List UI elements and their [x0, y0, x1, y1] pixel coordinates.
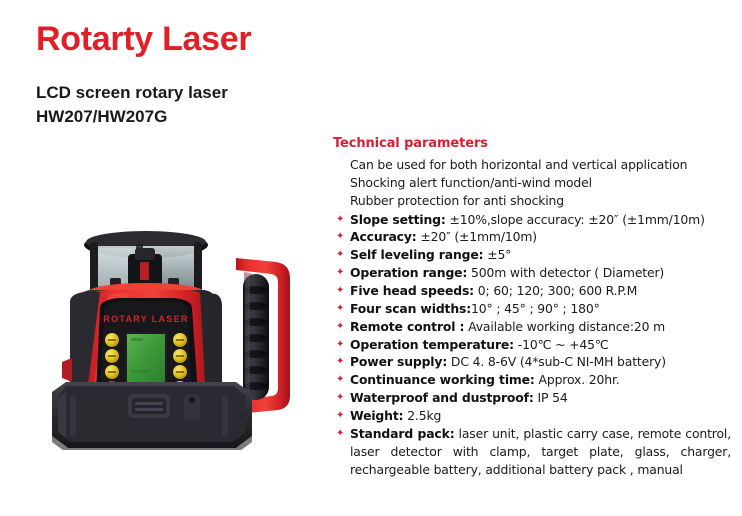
- spec-item: ✦ Four scan widths:10° ; 45° ; 90° ; 180…: [333, 300, 733, 318]
- spec-item: ✦ Remote control : Available working dis…: [333, 318, 733, 336]
- laser-base: [52, 382, 252, 450]
- spec-value: 2.5kg: [403, 408, 441, 423]
- rotary-laser-illustration: ROTARY LASER: [40, 150, 336, 450]
- spec-item: ✦ Power supply: DC 4. 8-6V (4*sub-C NI-M…: [333, 353, 733, 371]
- bullet-diamond-icon: ✦: [336, 407, 344, 425]
- product-image: ROTARY LASER: [40, 150, 336, 450]
- intro-line: Rubber protection for anti shocking: [333, 192, 733, 210]
- bullet-diamond-icon: ✦: [336, 318, 344, 336]
- specs-intro-lines: Can be used for both horizontal and vert…: [333, 156, 733, 210]
- bullet-diamond-icon: ✦: [336, 228, 344, 246]
- subtitle-description: LCD screen rotary laser: [36, 81, 336, 105]
- specs-bullet-list: ✦ Slope setting: ±10%,slope accuracy: ±2…: [333, 211, 733, 479]
- spec-value: 500m with detector ( Diameter): [467, 265, 664, 280]
- intro-line: Shocking alert function/anti-wind model: [333, 174, 733, 192]
- bullet-diamond-icon: ✦: [336, 264, 344, 282]
- bullet-diamond-icon: ✦: [336, 353, 344, 371]
- spec-item: ✦ Five head speeds: 0; 60; 120; 300; 600…: [333, 282, 733, 300]
- spec-item: ✦ Weight: 2.5kg: [333, 407, 733, 425]
- spec-item: ✦ Self leveling range: ±5°: [333, 246, 733, 264]
- bullet-diamond-icon: ✦: [336, 389, 344, 407]
- spec-item: ✦ Slope setting: ±10%,slope accuracy: ±2…: [333, 211, 733, 229]
- spec-label: Operation range:: [350, 265, 467, 280]
- spec-label: Operation temperature:: [350, 337, 514, 352]
- bullet-diamond-icon: ✦: [336, 300, 344, 318]
- bullet-diamond-icon: ✦: [336, 425, 344, 443]
- spec-item: ✦ Operation temperature: -10℃ ~ +45℃: [333, 336, 733, 354]
- intro-line: Can be used for both horizontal and vert…: [333, 156, 733, 174]
- spec-value: -10℃ ~ +45℃: [514, 337, 609, 352]
- spec-label: Continuance working time:: [350, 372, 535, 387]
- spec-item: ✦ Accuracy: ±20″ (±1mm/10m): [333, 228, 733, 246]
- technical-parameters-section: Technical parameters Can be used for bot…: [333, 136, 733, 478]
- spec-value: ±5°: [483, 247, 511, 262]
- title-block: Rotarty Laser LCD screen rotary laser HW…: [36, 22, 336, 129]
- page-title: Rotarty Laser: [36, 22, 336, 58]
- spec-value: ±10%,slope accuracy: ±20″ (±1mm/10m): [446, 212, 705, 227]
- spec-item: ✦ Waterproof and dustproof: IP 54: [333, 389, 733, 407]
- spec-value: Available working distance:20 m: [464, 319, 665, 334]
- spec-label: Power supply:: [350, 354, 447, 369]
- spec-value: Approx. 20hr.: [535, 372, 620, 387]
- spec-label: Self leveling range:: [350, 247, 483, 262]
- spec-label: Four scan widths:: [350, 301, 471, 316]
- spec-label: Weight:: [350, 408, 403, 423]
- spec-value: DC 4. 8-6V (4*sub-C NI-MH battery): [447, 354, 666, 369]
- bullet-diamond-icon: ✦: [336, 246, 344, 264]
- spec-label: Remote control :: [350, 319, 464, 334]
- bullet-diamond-icon: ✦: [336, 211, 344, 229]
- spec-item: ✦ Continuance working time: Approx. 20hr…: [333, 371, 733, 389]
- spec-value: 0; 60; 120; 300; 600 R.P.M: [474, 283, 637, 298]
- bullet-diamond-icon: ✦: [336, 336, 344, 354]
- spec-label: Accuracy:: [350, 229, 417, 244]
- subtitle-model: HW207/HW207G: [36, 105, 336, 129]
- bullet-diamond-icon: ✦: [336, 371, 344, 389]
- spec-label: Waterproof and dustproof:: [350, 390, 534, 405]
- spec-value: ±20″ (±1mm/10m): [417, 229, 537, 244]
- bullet-diamond-icon: ✦: [336, 282, 344, 300]
- spec-label: Standard pack:: [350, 426, 455, 441]
- specs-heading: Technical parameters: [333, 136, 733, 151]
- spec-value: 10° ; 45° ; 90° ; 180°: [471, 301, 600, 316]
- spec-value: IP 54: [534, 390, 568, 405]
- spec-item: ✦ Standard pack: laser unit, plastic car…: [333, 425, 733, 479]
- lcd-screen: [127, 334, 165, 382]
- spec-item: ✦ Operation range: 500m with detector ( …: [333, 264, 733, 282]
- spec-label: Slope setting:: [350, 212, 446, 227]
- spec-label: Five head speeds:: [350, 283, 474, 298]
- product-panel-label: ROTARY LASER: [103, 314, 188, 324]
